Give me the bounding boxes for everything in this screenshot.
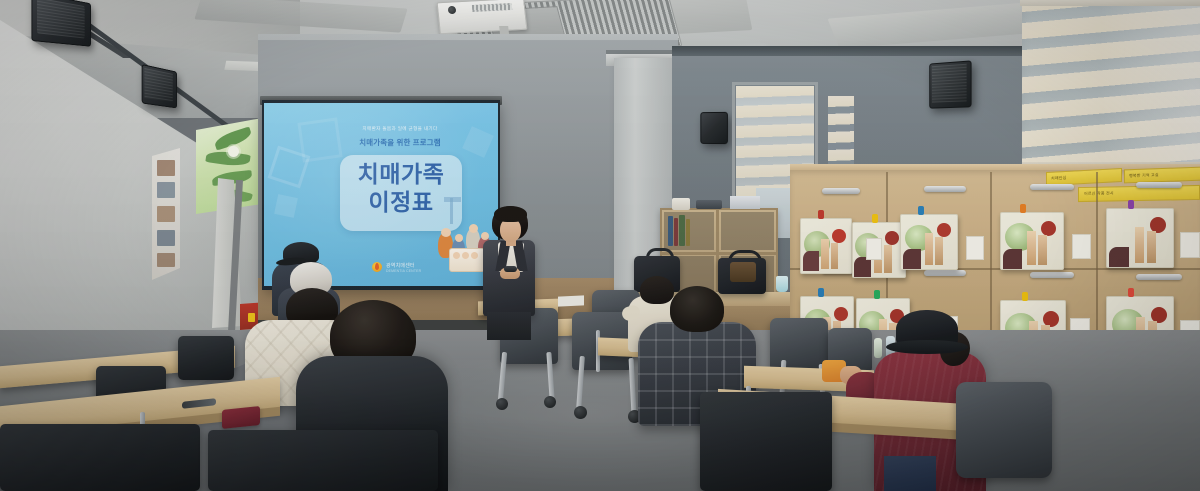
notice-item bbox=[157, 206, 175, 222]
slide-title-line-1: 치매가족 bbox=[340, 163, 462, 186]
chair[interactable] bbox=[770, 318, 828, 370]
shelf-top-object bbox=[730, 196, 760, 209]
wall-speaker-grille bbox=[932, 64, 967, 103]
slide-logo-flame-icon bbox=[375, 263, 379, 270]
family-illustration-child bbox=[471, 252, 478, 259]
cabinet-handle[interactable] bbox=[1136, 274, 1182, 280]
yellow-sign-text: 행복한 기억 교실 bbox=[1129, 172, 1159, 179]
cabinet-handle[interactable] bbox=[924, 270, 966, 276]
family-illustration-head bbox=[441, 228, 451, 237]
attendee-hair bbox=[670, 286, 724, 332]
wall-speaker-icon bbox=[700, 112, 728, 144]
artwork-clip bbox=[1020, 204, 1026, 213]
wall-speaker-grille bbox=[37, 0, 85, 38]
hat-brim bbox=[886, 340, 968, 354]
microphone bbox=[504, 266, 517, 272]
book bbox=[668, 216, 673, 246]
chair-caster bbox=[574, 406, 587, 419]
paper-on-table bbox=[558, 295, 584, 306]
bag-flap bbox=[730, 262, 756, 282]
chair[interactable] bbox=[178, 336, 234, 380]
slide-logo-text: 광역치매센터 bbox=[386, 262, 415, 269]
cabinet-handle[interactable] bbox=[1030, 272, 1074, 278]
yellow-sign-text: 어르신 작품 전시 bbox=[1084, 190, 1114, 197]
cabinet-label bbox=[1072, 234, 1091, 259]
book bbox=[674, 218, 678, 246]
shelf-top-object bbox=[696, 200, 722, 209]
family-illustration-head bbox=[455, 234, 463, 242]
family-illustration-head bbox=[481, 232, 489, 240]
attendee-jeans bbox=[884, 456, 936, 491]
attendee-hair bbox=[640, 276, 674, 304]
right-wall-trim bbox=[672, 46, 1032, 56]
artwork-panel bbox=[900, 214, 958, 270]
notice-item bbox=[157, 253, 175, 267]
water-bottle bbox=[874, 338, 882, 358]
flower-icon bbox=[228, 146, 239, 157]
presenter-hair-front bbox=[494, 206, 527, 222]
chair[interactable] bbox=[956, 382, 1052, 478]
slide-kicker-text: 치매환자 돌봄과 일에 균형을 내기다 bbox=[330, 126, 470, 132]
slide-logo-subtext: DEMENTIA CENTER bbox=[386, 269, 421, 273]
shelf-top-object bbox=[672, 198, 690, 210]
photo-scene: 치매환자 돌봄과 일에 균형을 내기다 치매가족을 위한 프로그램 치매가족 이… bbox=[0, 0, 1200, 491]
book bbox=[686, 219, 690, 246]
family-illustration-child bbox=[453, 252, 460, 259]
bookshelf-cell bbox=[721, 212, 774, 250]
cabinet-handle[interactable] bbox=[924, 186, 966, 192]
slide-title-line-2: 이정표 bbox=[340, 191, 462, 214]
cabinet-handle[interactable] bbox=[822, 188, 860, 194]
artwork-clip bbox=[1022, 292, 1028, 301]
wallet bbox=[222, 406, 260, 429]
notice-item bbox=[157, 182, 175, 198]
yellow-sign-text: 치매안심 bbox=[1051, 175, 1067, 182]
notice-item bbox=[157, 160, 175, 176]
wall-speaker-grille bbox=[144, 68, 172, 102]
chair[interactable] bbox=[700, 392, 832, 491]
presenter-skirt bbox=[487, 312, 531, 340]
window-daylight-glow bbox=[1100, 0, 1200, 168]
cabinet-label bbox=[966, 236, 984, 260]
artwork-clip bbox=[1128, 288, 1134, 297]
chair[interactable] bbox=[0, 424, 200, 491]
chair-caster bbox=[496, 398, 508, 410]
blind-head-rail[interactable] bbox=[1020, 0, 1200, 6]
slide-subtitle: 치매가족을 위한 프로그램 bbox=[324, 137, 476, 148]
chair[interactable] bbox=[208, 430, 438, 491]
family-illustration-child bbox=[462, 252, 469, 259]
artwork-panel bbox=[1000, 212, 1064, 270]
cabinet-label bbox=[866, 238, 882, 260]
cabinet-handle[interactable] bbox=[1136, 182, 1182, 188]
artwork-clip bbox=[818, 210, 824, 219]
notice-item bbox=[157, 230, 175, 246]
artwork-panel bbox=[800, 218, 852, 274]
cabinet-label bbox=[1180, 232, 1200, 258]
slide-decoration-square bbox=[274, 194, 298, 218]
artwork-clip bbox=[872, 214, 878, 223]
artwork-panel bbox=[1106, 208, 1174, 268]
artwork-clip bbox=[918, 206, 924, 215]
box-detail bbox=[248, 313, 255, 322]
family-illustration-head bbox=[469, 224, 478, 233]
book bbox=[679, 215, 685, 246]
artwork-clip bbox=[874, 290, 880, 299]
artwork-clip bbox=[1128, 200, 1134, 209]
chair-caster bbox=[544, 396, 556, 408]
artwork-clip bbox=[818, 288, 824, 297]
cup bbox=[776, 276, 788, 292]
cabinet-handle[interactable] bbox=[1030, 184, 1074, 190]
yellow-sign-strip: 행복한 기억 교실 bbox=[1124, 167, 1200, 184]
